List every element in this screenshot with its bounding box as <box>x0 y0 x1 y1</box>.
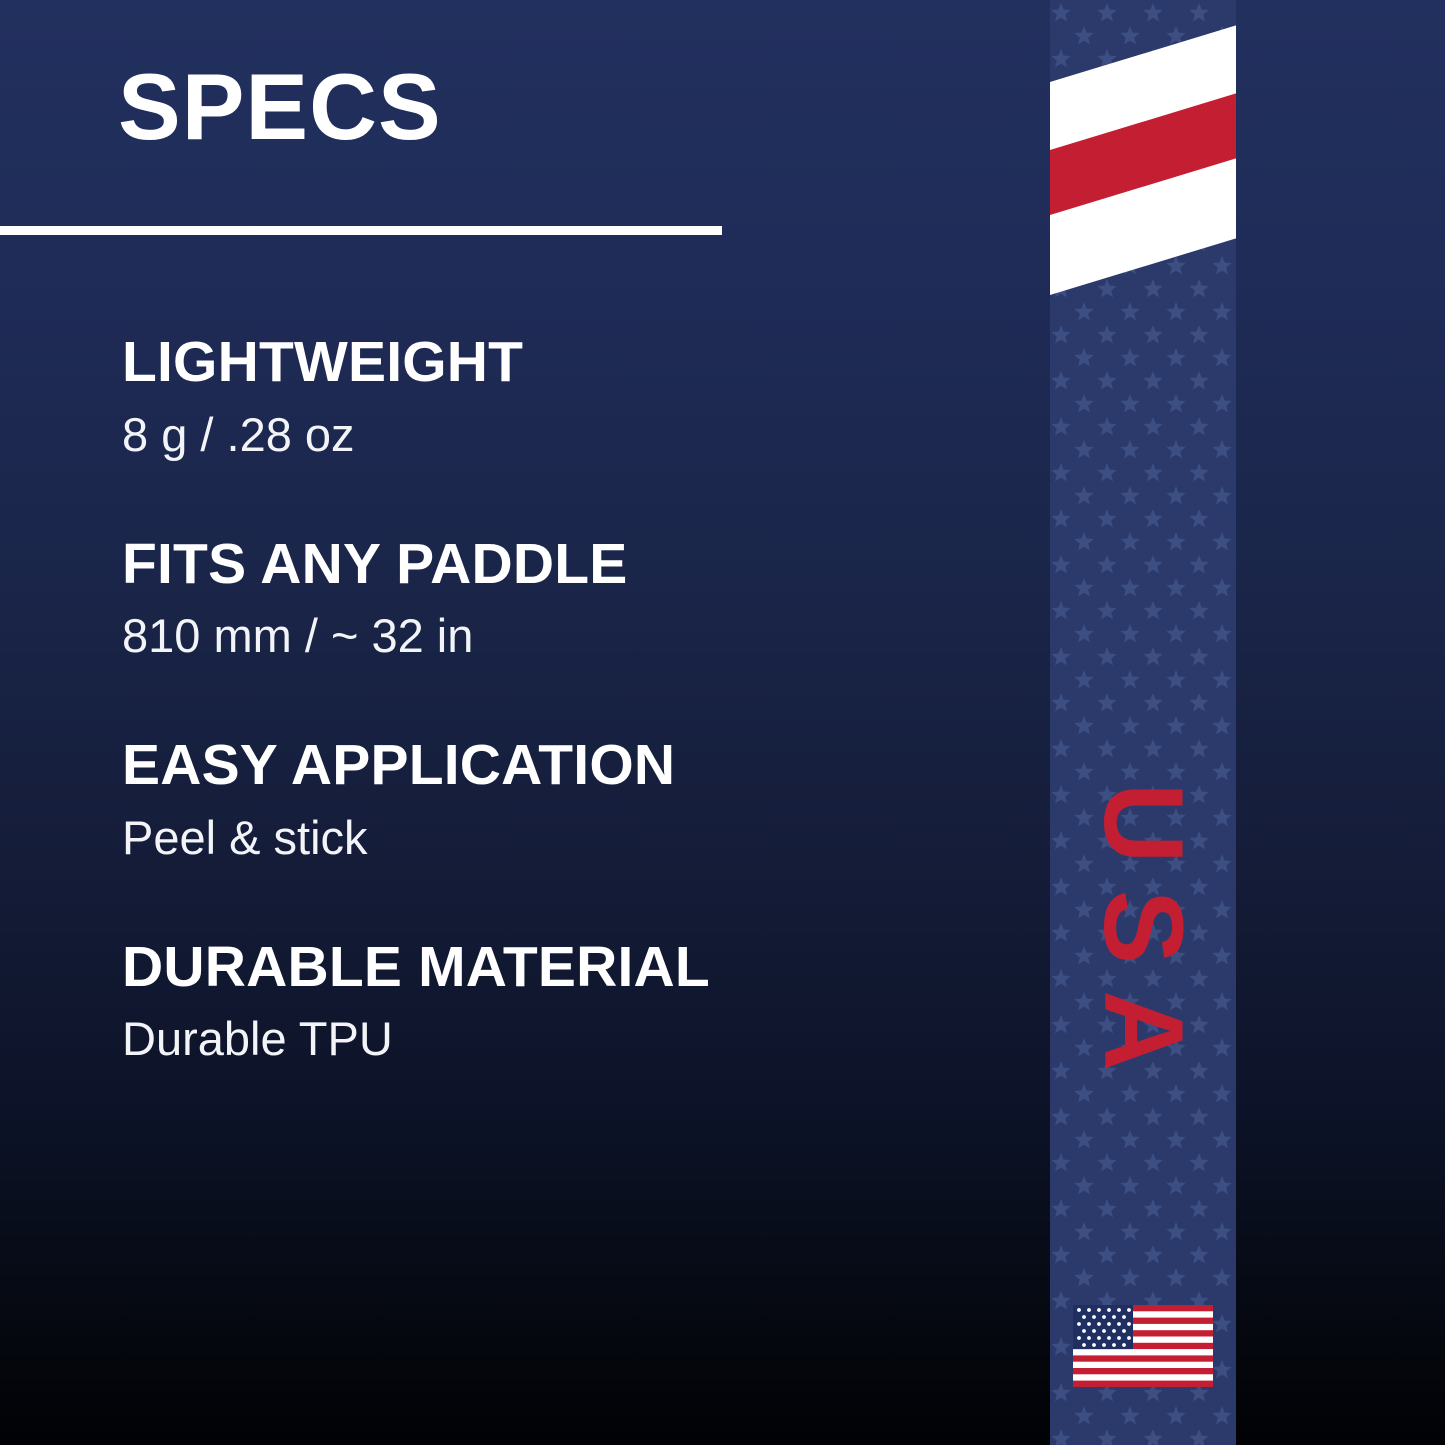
spec-label: EASY APPLICATION <box>122 735 1002 797</box>
spec-value: 8 g / .28 oz <box>122 408 1002 462</box>
spec-label: LIGHTWEIGHT <box>122 332 1002 394</box>
spec-item-fits-any-paddle: FITS ANY PADDLE 810 mm / ~ 32 in <box>122 534 1002 664</box>
diagonal-stripes-icon <box>1050 0 1236 370</box>
usa-wordmark-label: USA <box>1087 757 1199 1097</box>
spec-value: Peel & stick <box>122 811 1002 865</box>
flag-strip: USA <box>1050 0 1236 1445</box>
spec-list: LIGHTWEIGHT 8 g / .28 oz FITS ANY PADDLE… <box>122 332 1002 1066</box>
title-divider <box>0 226 722 235</box>
page-title: SPECS <box>118 60 442 154</box>
spec-value: 810 mm / ~ 32 in <box>122 609 1002 663</box>
usa-flag-icon <box>1073 1305 1213 1387</box>
spec-label: DURABLE MATERIAL <box>122 937 1002 999</box>
spec-item-lightweight: LIGHTWEIGHT 8 g / .28 oz <box>122 332 1002 462</box>
spec-item-easy-application: EASY APPLICATION Peel & stick <box>122 735 1002 865</box>
specs-panel: SPECS LIGHTWEIGHT 8 g / .28 oz FITS ANY … <box>0 0 1040 1445</box>
specs-graphic: SPECS LIGHTWEIGHT 8 g / .28 oz FITS ANY … <box>0 0 1445 1445</box>
spec-label: FITS ANY PADDLE <box>122 534 1002 596</box>
spec-item-durable-material: DURABLE MATERIAL Durable TPU <box>122 937 1002 1067</box>
usa-wordmark: USA <box>1050 762 1236 1092</box>
spec-value: Durable TPU <box>122 1012 1002 1066</box>
